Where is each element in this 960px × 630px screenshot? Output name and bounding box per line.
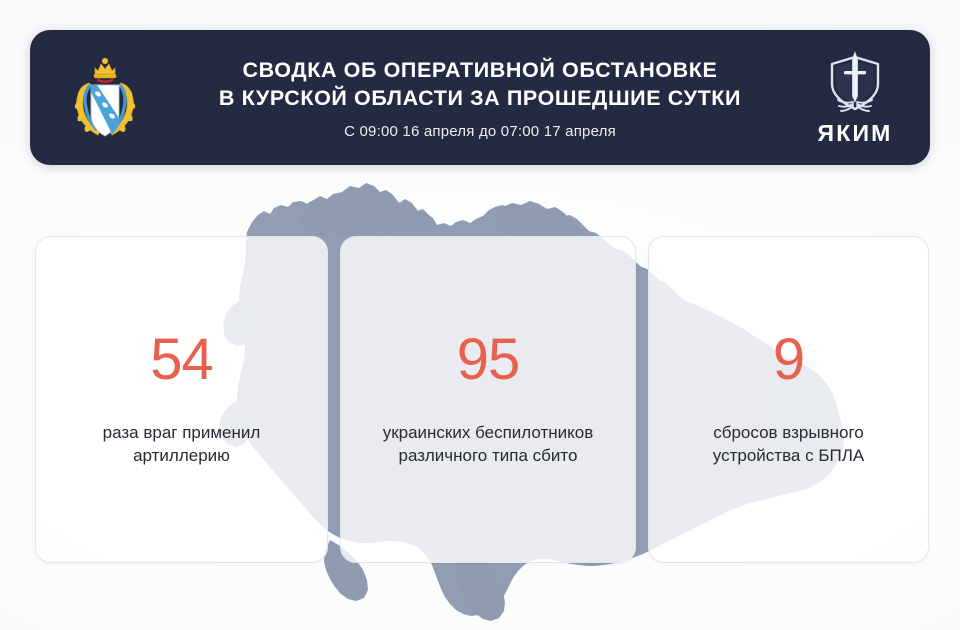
stat-number: 54 — [150, 331, 213, 389]
stat-card-explosive-drops: 9 сбросов взрывного устройства с БПЛА — [648, 236, 929, 563]
infographic-page: СВОДКА ОБ ОПЕРАТИВНОЙ ОБСТАНОВКЕ В КУРСК… — [0, 0, 960, 630]
stat-card-drones-downed: 95 украинских беспилотников различного т… — [340, 236, 636, 563]
kursk-oblast-coat-of-arms-icon — [69, 52, 141, 144]
stat-caption-line-2: артиллерию — [133, 446, 230, 465]
stat-caption-line-1: раза враг применил — [103, 423, 261, 442]
stat-card-artillery-strikes: 54 раза враг применил артиллерию — [35, 236, 328, 563]
stat-caption: раза враг применил артиллерию — [89, 421, 275, 468]
stat-caption-line-2: устройства с БПЛА — [713, 446, 864, 465]
stat-caption-line-1: сбросов взрывного — [713, 423, 864, 442]
stats-row: 54 раза враг применил артиллерию 95 укра… — [35, 236, 925, 563]
stat-caption-line-2: различного типа сбито — [399, 446, 578, 465]
stat-number: 95 — [457, 331, 520, 389]
stat-caption: сбросов взрывного устройства с БПЛА — [699, 421, 878, 468]
logo-slot: ЯКИМ — [780, 30, 930, 165]
header-title-block: СВОДКА ОБ ОПЕРАТИВНОЙ ОБСТАНОВКЕ В КУРСК… — [180, 55, 780, 140]
header-bar: СВОДКА ОБ ОПЕРАТИВНОЙ ОБСТАНОВКЕ В КУРСК… — [30, 30, 930, 165]
page-title-line-2: В КУРСКОЙ ОБЛАСТИ ЗА ПРОШЕДШИЕ СУТКИ — [219, 85, 741, 113]
stat-number: 9 — [773, 331, 804, 389]
shield-sword-icon — [824, 50, 886, 116]
stat-caption-line-1: украинских беспилотников — [383, 423, 594, 442]
logo-wordmark: ЯКИМ — [817, 122, 892, 145]
crest-slot — [30, 30, 180, 165]
stat-caption: украинских беспилотников различного типа… — [369, 421, 608, 468]
report-period-subtitle: С 09:00 16 апреля до 07:00 17 апреля — [344, 123, 616, 140]
page-title-line-1: СВОДКА ОБ ОПЕРАТИВНОЙ ОБСТАНОВКЕ — [243, 57, 718, 85]
